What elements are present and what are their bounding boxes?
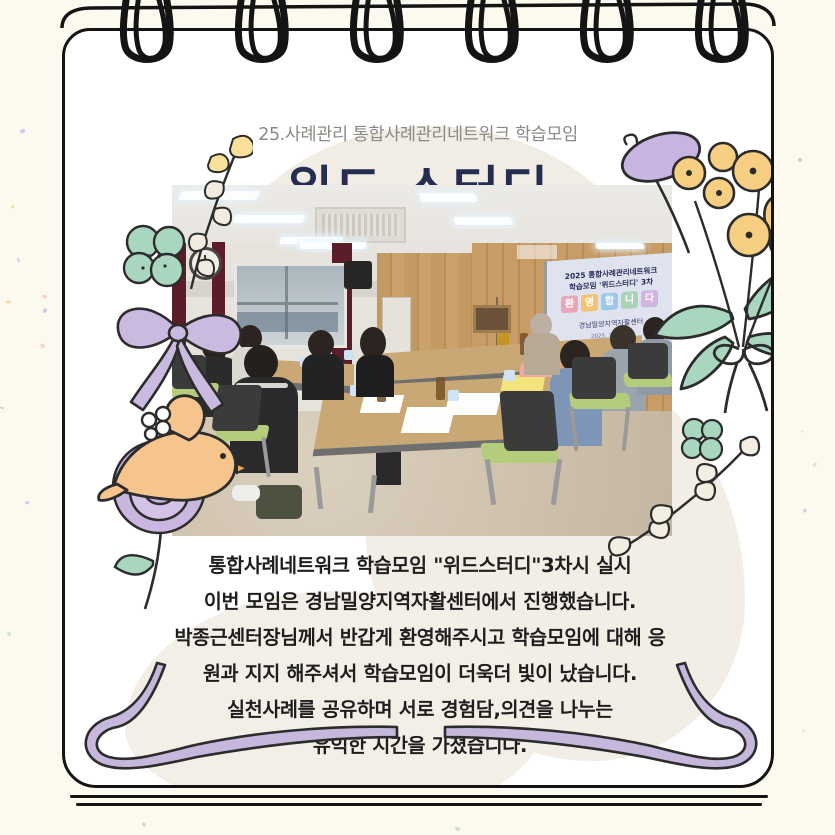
poster-canvas: 25.사례관리 통합사례관리네트워크 학습모임 위드 스터디	[0, 0, 835, 835]
notebook-page: 25.사례관리 통합사례관리네트워크 학습모임 위드 스터디	[62, 28, 774, 788]
body-line-3: 박종근센터장님께서 반갑게 환영해주시고 학습모임에 대해 응	[90, 620, 750, 656]
page-edge-1	[70, 795, 768, 798]
yellow-bouquet-icon	[653, 131, 774, 416]
welcome-block-1: 환	[561, 295, 578, 313]
green-clover-small-icon	[675, 413, 731, 469]
welcome-block-4: 니	[621, 291, 638, 309]
welcome-block-2: 영	[581, 294, 598, 312]
welcome-block-3: 합	[601, 292, 618, 310]
wall-speaker	[344, 261, 372, 289]
confetti-dot	[803, 508, 807, 512]
peach-bird-icon	[97, 386, 252, 526]
screen-welcome-blocks: 환영합니다	[561, 290, 658, 314]
lavender-ribbon-left-icon	[75, 661, 405, 788]
page-edge-2	[76, 803, 762, 806]
lavender-ribbon-right-icon	[437, 661, 767, 788]
spiral-binding	[0, 0, 835, 100]
